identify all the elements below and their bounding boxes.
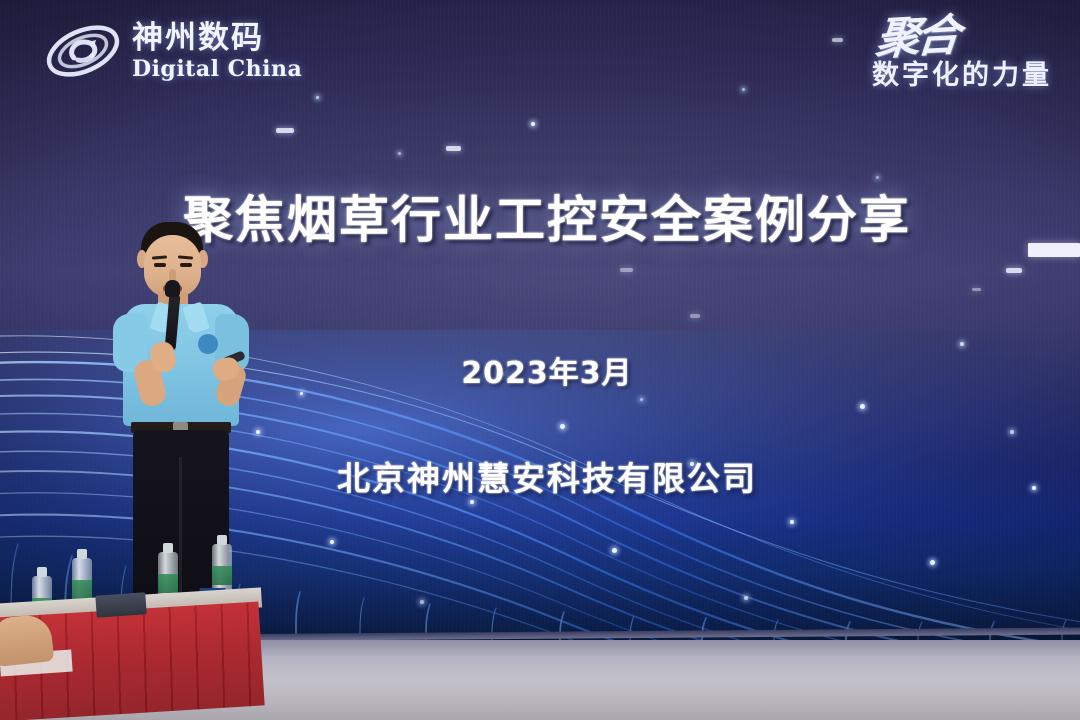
presenter-eye-left	[154, 263, 166, 267]
event-logo: 聚合 数字化的力量	[872, 16, 1052, 89]
presenter-eye-right	[180, 263, 192, 267]
screen-edge-light-bar	[1028, 243, 1080, 257]
brand-name-cn: 神州数码	[132, 23, 302, 54]
microphone-head	[165, 280, 180, 297]
event-slogan: 数字化的力量	[872, 62, 1052, 89]
digital-china-swirl-logo-icon	[44, 18, 122, 84]
brand-name-en: Digital China	[132, 58, 302, 80]
event-calligraphy: 聚合	[874, 14, 958, 62]
conference-photo: 神州数码 Digital China 聚合 数字化的力量 聚焦烟草行业工控安全案…	[0, 0, 1080, 720]
digital-china-logo: 神州数码 Digital China	[44, 18, 302, 84]
presenter	[95, 222, 285, 642]
laptop	[95, 592, 146, 617]
presenter-chest-logo	[198, 334, 218, 354]
